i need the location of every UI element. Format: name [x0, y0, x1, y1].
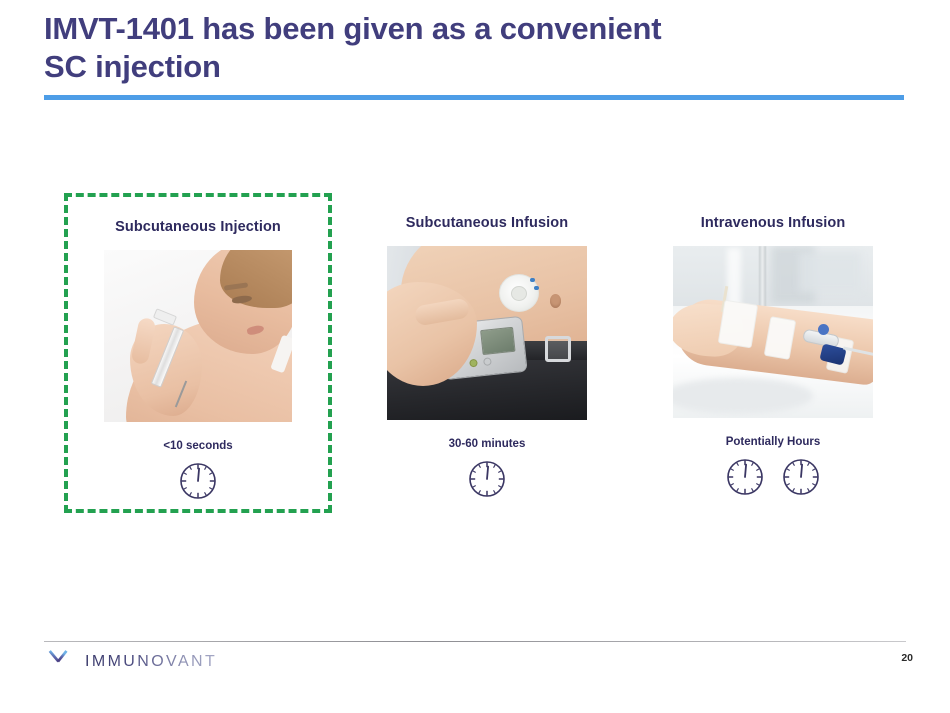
panel-heading: Subcutaneous Injection [68, 197, 328, 235]
clock-icon [780, 456, 822, 498]
photo-medical-tape [718, 300, 758, 349]
logo-wordmark: IMMUNOVANT [85, 653, 217, 671]
photo-pump-button [483, 357, 492, 366]
title-block: IMVT-1401 has been given as a convenient… [44, 10, 874, 86]
page-title: IMVT-1401 has been given as a convenient… [44, 10, 874, 86]
modality-panels: Subcutaneous Injection <10 seconds [0, 193, 950, 533]
company-logo: IMMUNOVANT [46, 649, 217, 675]
photo-pump-screen [480, 327, 515, 355]
photo-subcutaneous-infusion [387, 246, 587, 420]
panel-caption: Potentially Hours [648, 436, 898, 448]
page-number: 20 [901, 652, 913, 664]
photo-subcutaneous-injection [104, 250, 292, 422]
photo-iv-pole [759, 246, 766, 312]
clock-row [648, 456, 898, 498]
title-underline-rule [44, 95, 904, 100]
clock-row [362, 458, 612, 500]
photo-pump-button [469, 359, 478, 368]
panel-caption: 30-60 minutes [362, 438, 612, 450]
highlight-dashed-box: Subcutaneous Injection <10 seconds [64, 193, 332, 513]
panel-heading: Subcutaneous Infusion [362, 193, 612, 231]
panel-subcutaneous-infusion: Subcutaneous Infusion [362, 193, 612, 513]
footer-divider [44, 641, 906, 642]
clock-row [68, 460, 328, 502]
photo-intravenous-infusion [673, 246, 873, 418]
photo-belt-buckle [545, 336, 571, 362]
clock-icon [724, 456, 766, 498]
photo-background-blur [799, 252, 861, 292]
photo-navel-shape [550, 294, 561, 308]
panel-heading: Intravenous Infusion [648, 193, 898, 231]
panel-intravenous-infusion: Intravenous Infusion Pote [648, 193, 898, 513]
clock-icon [466, 458, 508, 500]
antibody-y-icon [46, 649, 76, 675]
photo-iv-valve [818, 324, 829, 335]
photo-patch-marker [534, 286, 539, 290]
panel-caption: <10 seconds [68, 440, 328, 452]
panel-subcutaneous-injection: Subcutaneous Injection <10 seconds [64, 193, 340, 513]
clock-icon [177, 460, 219, 502]
photo-patch-marker [530, 278, 535, 282]
